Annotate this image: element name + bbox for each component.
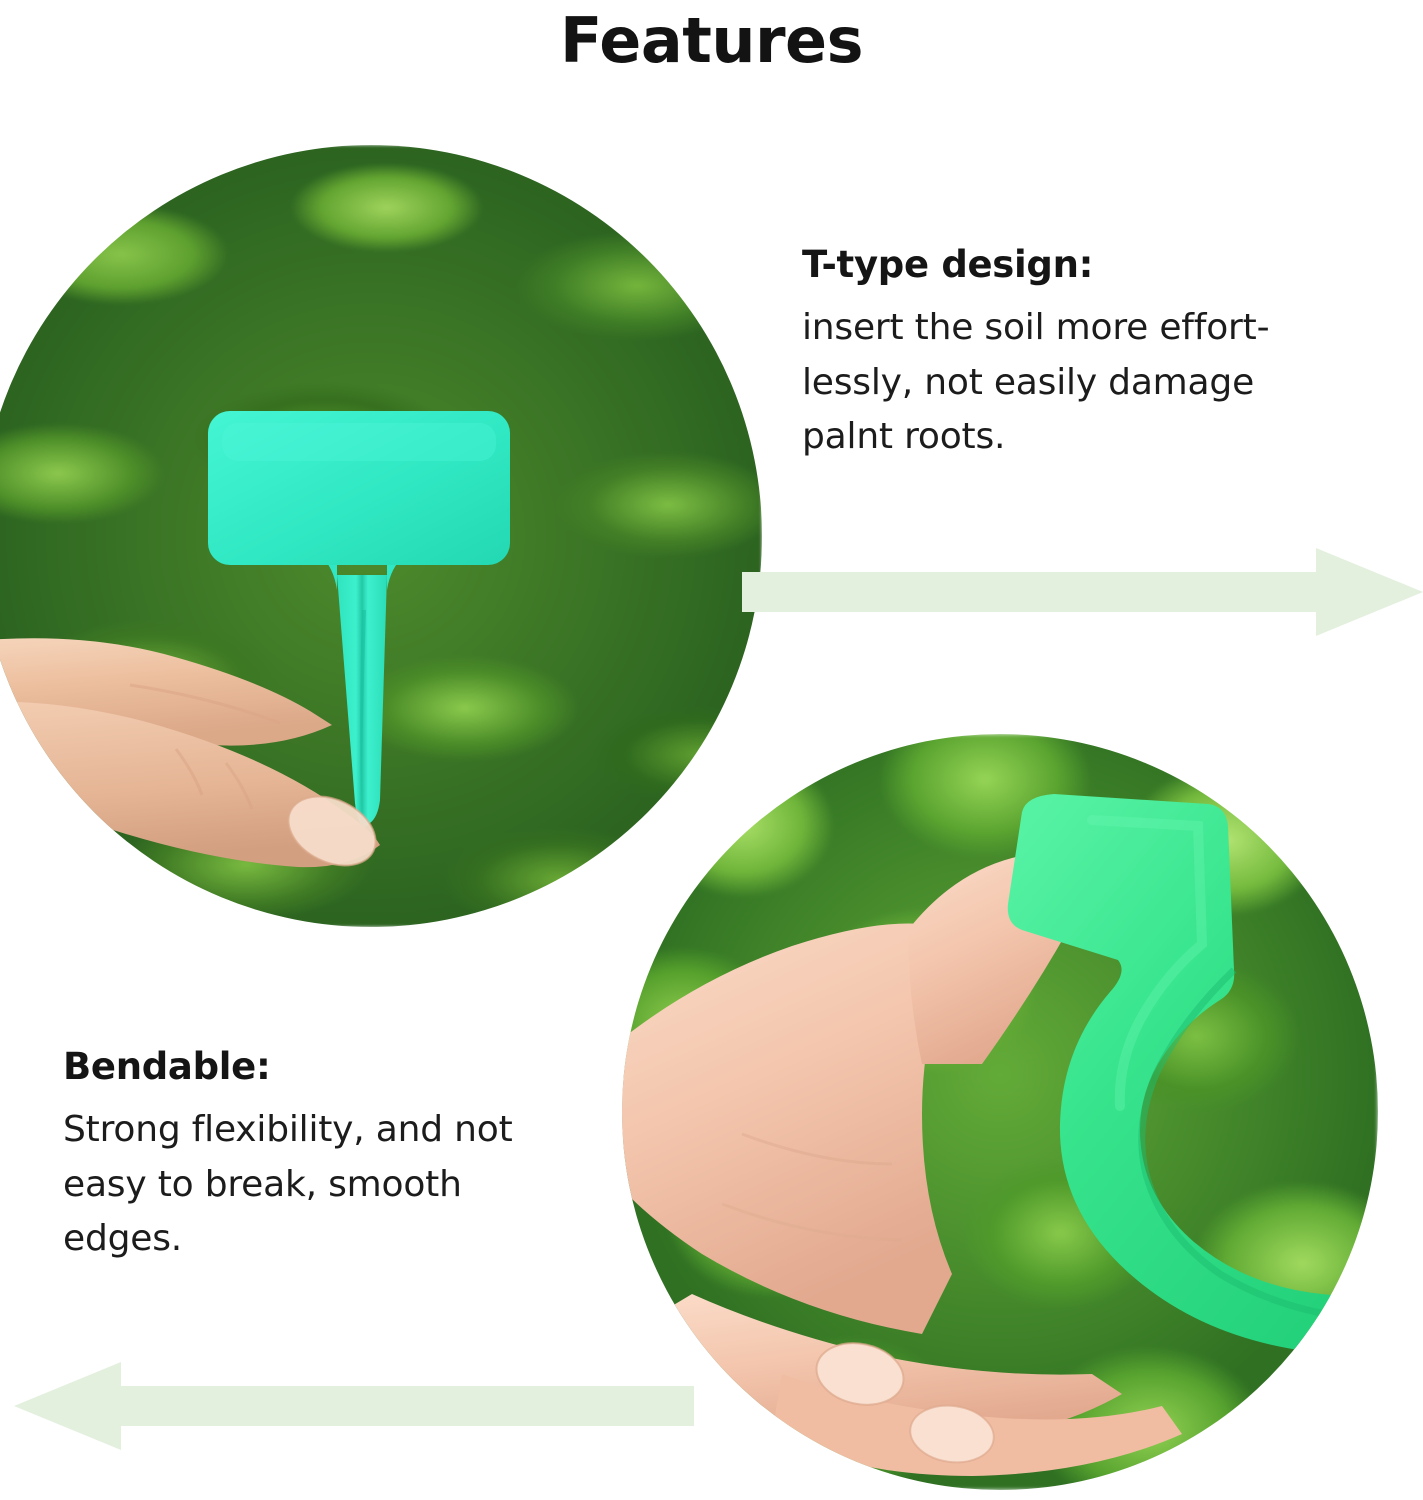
photo-bending-label-demo: [622, 734, 1378, 1490]
feature-body-line: insert the soil more effort-: [802, 301, 1402, 356]
arrow-left-icon: [14, 1362, 694, 1450]
features-page: Features: [0, 0, 1423, 1500]
bendable-label-illustration: [622, 734, 1378, 1490]
feature-bendable: Bendable: Strong flexibility, and not ea…: [63, 1048, 663, 1267]
arrow-right-icon: [742, 548, 1423, 636]
page-title: Features: [0, 4, 1423, 77]
feature-body-line: Strong flexibility, and not: [63, 1103, 663, 1158]
feature-body-line: palnt roots.: [802, 410, 1402, 465]
feature-heading: T-type design:: [802, 246, 1402, 283]
feature-body-line: edges.: [63, 1212, 663, 1267]
feature-heading: Bendable:: [63, 1048, 663, 1085]
feature-t-type-design: T-type design: insert the soil more effo…: [802, 246, 1402, 465]
feature-body-line: easy to break, smooth: [63, 1158, 663, 1213]
feature-body-line: lessly, not easily damage: [802, 356, 1402, 411]
